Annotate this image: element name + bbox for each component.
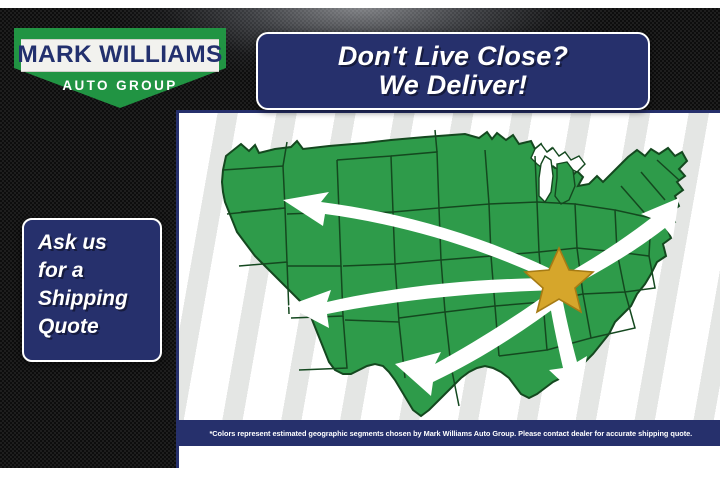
headline-line-2: We Deliver! — [379, 71, 528, 100]
promo-graphic: MARK WILLIAMS AUTO GROUP Don't Live Clos… — [0, 0, 720, 480]
delivery-map-panel: *Colors represent estimated geographic s… — [176, 110, 720, 468]
headline-line-1: Don't Live Close? — [338, 42, 568, 71]
bottom-white-strip — [0, 468, 720, 480]
ask-line-1: Ask us — [38, 229, 160, 257]
logo-name-band: MARK WILLIAMS — [21, 39, 219, 72]
usa-states-group — [222, 130, 687, 416]
ask-line-2: for a — [38, 257, 160, 285]
ask-for-quote-callout[interactable]: Ask us for a Shipping Quote — [22, 218, 162, 362]
headline-banner: Don't Live Close? We Deliver! — [256, 32, 650, 110]
footnote-bar: *Colors represent estimated geographic s… — [179, 420, 720, 446]
state-region-usa-outline — [222, 132, 687, 416]
ask-line-3: Shipping — [38, 285, 160, 313]
top-white-strip — [0, 0, 720, 8]
ask-line-4: Quote — [38, 313, 160, 341]
logo-name-text: MARK WILLIAMS — [17, 43, 222, 68]
usa-map[interactable] — [179, 116, 720, 434]
panel-bottom-white-strip — [179, 446, 720, 468]
brand-logo[interactable]: MARK WILLIAMS AUTO GROUP — [14, 28, 226, 108]
logo-subtitle-text: AUTO GROUP — [14, 78, 226, 93]
footnote-text: *Colors represent estimated geographic s… — [210, 429, 693, 438]
